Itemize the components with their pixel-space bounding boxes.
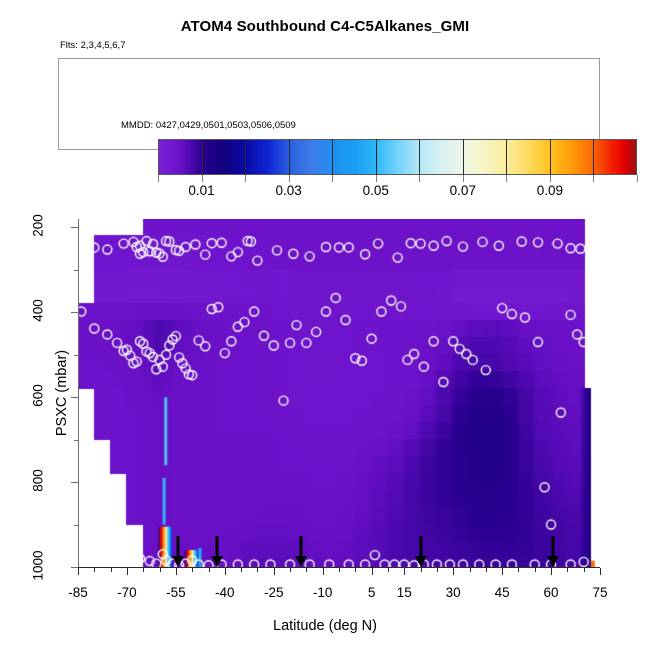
x-axis-tick-label: 75 xyxy=(592,585,607,600)
x-axis-tick-label: -85 xyxy=(68,585,88,600)
colorbar-tick-labels: 0.010.030.050.070.09 xyxy=(158,183,637,199)
x-axis-minor-tick xyxy=(143,568,144,572)
x-axis-minor-tick xyxy=(111,568,112,572)
colorbar-ticks xyxy=(158,175,637,182)
x-axis-minor-tick xyxy=(535,568,536,572)
x-axis-tick xyxy=(274,568,275,575)
x-axis-minor-tick xyxy=(388,568,389,572)
x-axis-tick xyxy=(551,568,552,575)
x-axis-tick-label: -40 xyxy=(215,585,235,600)
colorbar-tick xyxy=(550,175,551,182)
x-axis-tick-label: -25 xyxy=(264,585,284,600)
y-axis-tick-label: 400 xyxy=(31,291,46,331)
y-axis-tick-label: 1000 xyxy=(31,546,46,586)
x-axis-minor-tick xyxy=(209,568,210,572)
y-axis-tick xyxy=(71,227,78,228)
colorbar-tick xyxy=(637,175,638,182)
x-axis-minor-tick xyxy=(192,568,193,572)
x-axis-minor-tick xyxy=(160,568,161,572)
x-axis-tick xyxy=(127,568,128,575)
y-axis-minor-tick xyxy=(74,270,78,271)
x-axis-tick xyxy=(600,568,601,575)
x-axis-tick xyxy=(372,568,373,575)
x-axis-minor-tick xyxy=(584,568,585,572)
colorbar-tick xyxy=(202,175,203,182)
y-axis-minor-tick xyxy=(74,355,78,356)
x-axis-minor-tick xyxy=(241,568,242,572)
colorbar-tick-label: 0.05 xyxy=(363,183,389,198)
flights-label: Flts: 2,3,4,5,6,7 xyxy=(60,40,125,51)
y-axis-tick xyxy=(71,482,78,483)
x-axis-tick-label: 15 xyxy=(397,585,412,600)
y-axis-minor-tick xyxy=(74,525,78,526)
x-axis-tick-label: -10 xyxy=(313,585,333,600)
colorbar-gradient xyxy=(158,139,637,175)
y-axis-tick-label: 200 xyxy=(31,206,46,246)
x-axis-minor-tick xyxy=(437,568,438,572)
heatmap-plot-area xyxy=(78,219,600,567)
x-axis-tick-label: 45 xyxy=(495,585,510,600)
x-axis-minor-tick xyxy=(94,568,95,572)
x-axis-minor-tick xyxy=(518,568,519,572)
colorbar-tick xyxy=(289,175,290,182)
x-axis-minor-tick xyxy=(486,568,487,572)
page-title: ATOM4 Southbound C4-C5Alkanes_GMI xyxy=(0,18,650,35)
mmdd-label: MMDD: 0427,0429,0501,0503,0506,0509 xyxy=(121,120,296,131)
x-axis-minor-tick xyxy=(421,568,422,572)
x-axis-minor-tick xyxy=(470,568,471,572)
colorbar xyxy=(158,139,637,175)
y-axis-tick xyxy=(71,397,78,398)
colorbar-tick xyxy=(593,175,594,182)
x-axis-tick xyxy=(176,568,177,575)
y-axis-tick xyxy=(71,567,78,568)
x-axis-tick xyxy=(225,568,226,575)
x-axis-minor-tick xyxy=(306,568,307,572)
y-axis-minor-tick xyxy=(74,440,78,441)
colorbar-tick xyxy=(158,175,159,182)
x-axis-tick-label: -55 xyxy=(166,585,186,600)
x-axis-tick xyxy=(78,568,79,575)
y-axis-line xyxy=(78,219,79,567)
colorbar-tick-label: 0.01 xyxy=(188,183,214,198)
x-axis-minor-tick xyxy=(290,568,291,572)
x-axis-minor-tick xyxy=(567,568,568,572)
x-axis-minor-tick xyxy=(257,568,258,572)
x-axis-tick xyxy=(404,568,405,575)
colorbar-tick xyxy=(506,175,507,182)
colorbar-tick-label: 0.09 xyxy=(537,183,563,198)
y-axis-tick-label: 800 xyxy=(31,461,46,501)
y-axis-title: PSXC (mbar) xyxy=(54,313,70,473)
colorbar-tick xyxy=(463,175,464,182)
colorbar-tick xyxy=(376,175,377,182)
x-axis-tick xyxy=(323,568,324,575)
y-axis-tick-label: 600 xyxy=(31,376,46,416)
x-axis-tick xyxy=(453,568,454,575)
colorbar-tick xyxy=(245,175,246,182)
x-axis-tick-label: 30 xyxy=(446,585,461,600)
colorbar-panel: MMDD: 0427,0429,0501,0503,0506,0509 0.01… xyxy=(58,58,600,150)
colorbar-tick-label: 0.03 xyxy=(275,183,301,198)
x-axis-tick-label: 5 xyxy=(368,585,376,600)
x-axis-tick xyxy=(502,568,503,575)
x-axis-minor-tick xyxy=(339,568,340,572)
x-axis-title: Latitude (deg N) xyxy=(0,618,650,634)
x-axis-tick-label: -70 xyxy=(117,585,137,600)
x-axis-minor-tick xyxy=(355,568,356,572)
colorbar-tick-label: 0.07 xyxy=(450,183,476,198)
y-axis-tick xyxy=(71,312,78,313)
colorbar-tick xyxy=(332,175,333,182)
x-axis-tick-label: 60 xyxy=(544,585,559,600)
colorbar-tick xyxy=(419,175,420,182)
